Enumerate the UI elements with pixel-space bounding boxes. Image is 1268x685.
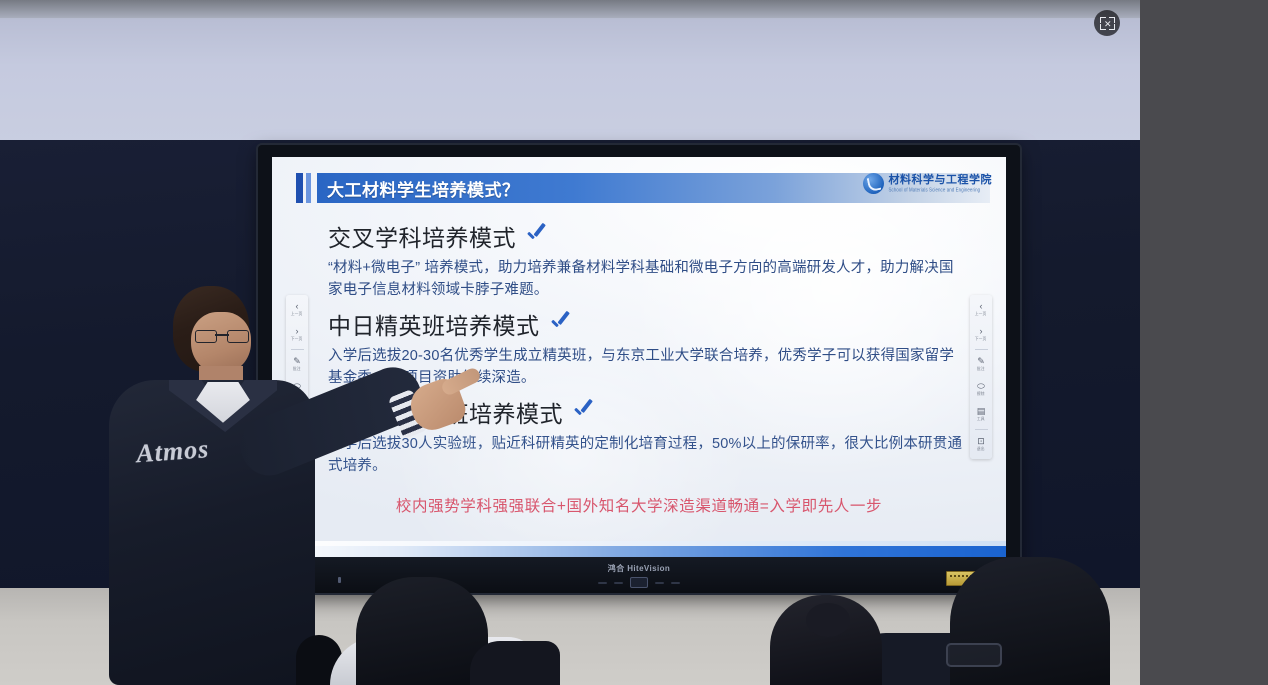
section-body: 入学后选拔30人实验班，贴近科研精英的定制化培育过程，50%以上的保研率，很大比… bbox=[328, 433, 966, 478]
slide-body: 交叉学科培养模式 “材料+微电子” 培养模式，助力培养兼备材料学科基础和微电子方… bbox=[328, 219, 966, 483]
panel-led-indicator bbox=[338, 577, 341, 583]
toolbar-exit[interactable]: ⊡ 退出 bbox=[971, 434, 991, 455]
expand-icon-center: ✕ bbox=[1104, 20, 1112, 29]
panel-hardware-keys[interactable] bbox=[598, 577, 680, 588]
bezel-key[interactable] bbox=[598, 582, 607, 584]
toolbar-label: 批注 bbox=[977, 367, 985, 372]
bezel-key[interactable] bbox=[655, 582, 664, 584]
power-button[interactable] bbox=[630, 577, 648, 588]
exit-icon: ⊡ bbox=[977, 437, 985, 446]
title-accent-bar-secondary bbox=[306, 173, 311, 203]
presentation-slide: 大工材料学生培养模式？ 材料科学与工程学院 School of Material… bbox=[272, 157, 1006, 557]
interactive-flat-panel[interactable]: 大工材料学生培养模式？ 材料科学与工程学院 School of Material… bbox=[258, 145, 1020, 593]
audience-member-hairbun bbox=[806, 603, 850, 637]
classroom-wall bbox=[0, 0, 1140, 146]
title-accent-bar bbox=[296, 173, 303, 203]
toolbar-divider bbox=[975, 349, 988, 350]
panel-brand-label: 鸿合 HiteVision bbox=[608, 563, 670, 574]
toolbar-annotate[interactable]: ✎ 批注 bbox=[971, 354, 991, 375]
bezel-key[interactable] bbox=[671, 582, 680, 584]
video-frame[interactable]: 大工材料学生培养模式？ 材料科学与工程学院 School of Material… bbox=[0, 0, 1140, 685]
bezel-key[interactable] bbox=[614, 582, 623, 584]
toolbar-next-page[interactable]: › 下一页 bbox=[971, 324, 991, 345]
toolbar-label: 退出 bbox=[977, 447, 985, 452]
pen-icon: ✎ bbox=[977, 357, 985, 366]
toolbar-label: 工具 bbox=[977, 417, 985, 422]
school-logo-cn: 材料科学与工程学院 bbox=[889, 175, 993, 186]
expand-icon: ✕ bbox=[1100, 17, 1115, 30]
toolbar-label: 擦除 bbox=[977, 392, 985, 397]
presenter-face bbox=[191, 312, 251, 374]
glasses-icon bbox=[195, 330, 249, 342]
section-heading-row: 中日精英班培养模式 bbox=[328, 307, 966, 341]
slide-title: 大工材料学生培养模式？ bbox=[327, 176, 520, 201]
panel-toolbar-right[interactable]: ‹ 上一页 › 下一页 ✎ 批注 ⬭ 擦除 ▤ 工具 bbox=[970, 295, 992, 459]
panel-screen[interactable]: 大工材料学生培养模式？ 材料科学与工程学院 School of Material… bbox=[272, 157, 1006, 557]
chevron-left-icon: ‹ bbox=[980, 302, 983, 311]
toolbar-divider bbox=[975, 429, 988, 430]
panel-bezel: 鸿合 HiteVision bbox=[258, 557, 1020, 593]
slide-section: 中日精英班培养模式 入学后选拔20-30名优秀学生成立精英班，与东京工业大学联合… bbox=[328, 307, 966, 390]
slide-footer-bar bbox=[272, 546, 1006, 557]
chevron-right-icon: › bbox=[980, 327, 983, 336]
school-logo-en: School of Materials Science and Engineer… bbox=[889, 188, 993, 193]
checkmark-icon bbox=[571, 401, 595, 423]
eraser-icon: ⬭ bbox=[977, 382, 985, 391]
toolbar-tools[interactable]: ▤ 工具 bbox=[971, 404, 991, 425]
toolbar-prev-page[interactable]: ‹ 上一页 bbox=[971, 299, 991, 320]
audience-member-body bbox=[470, 641, 560, 685]
section-body: “材料+微电子” 培养模式，助力培养兼备材料学科基础和微电子方向的高端研发人才，… bbox=[328, 257, 966, 302]
section-heading: 交叉学科培养模式 bbox=[328, 219, 516, 253]
section-heading: 中日精英班培养模式 bbox=[328, 307, 540, 341]
fullscreen-button[interactable]: ✕ bbox=[1094, 10, 1120, 36]
slide-conclusion: 校内强势学科强强联合+国外知名大学深造渠道畅通=入学即先人一步 bbox=[272, 494, 1006, 516]
school-logo-icon bbox=[863, 173, 884, 194]
checkmark-icon bbox=[524, 225, 548, 247]
screenshot-root: 大工材料学生培养模式？ 材料科学与工程学院 School of Material… bbox=[0, 0, 1268, 685]
toolbar-erase[interactable]: ⬭ 擦除 bbox=[971, 379, 991, 400]
school-logo: 材料科学与工程学院 School of Materials Science an… bbox=[863, 173, 993, 194]
toolbar-label: 下一页 bbox=[975, 337, 987, 342]
section-body: 入学后选拔20-30名优秀学生成立精英班，与东京工业大学联合培养，优秀学子可以获… bbox=[328, 345, 966, 390]
toolbox-icon: ▤ bbox=[977, 407, 986, 416]
letterbox-right bbox=[1140, 0, 1268, 685]
school-logo-text: 材料科学与工程学院 School of Materials Science an… bbox=[889, 175, 993, 192]
audience-member bbox=[356, 577, 488, 685]
slide-section: 交叉学科培养模式 “材料+微电子” 培养模式，助力培养兼备材料学科基础和微电子方… bbox=[328, 219, 966, 302]
presenter: Atmos bbox=[95, 286, 320, 685]
section-heading-row: 交叉学科培养模式 bbox=[328, 219, 966, 253]
toolbar-label: 上一页 bbox=[975, 312, 987, 317]
audience-member-glasses-icon bbox=[946, 643, 1002, 667]
checkmark-icon bbox=[548, 313, 572, 335]
